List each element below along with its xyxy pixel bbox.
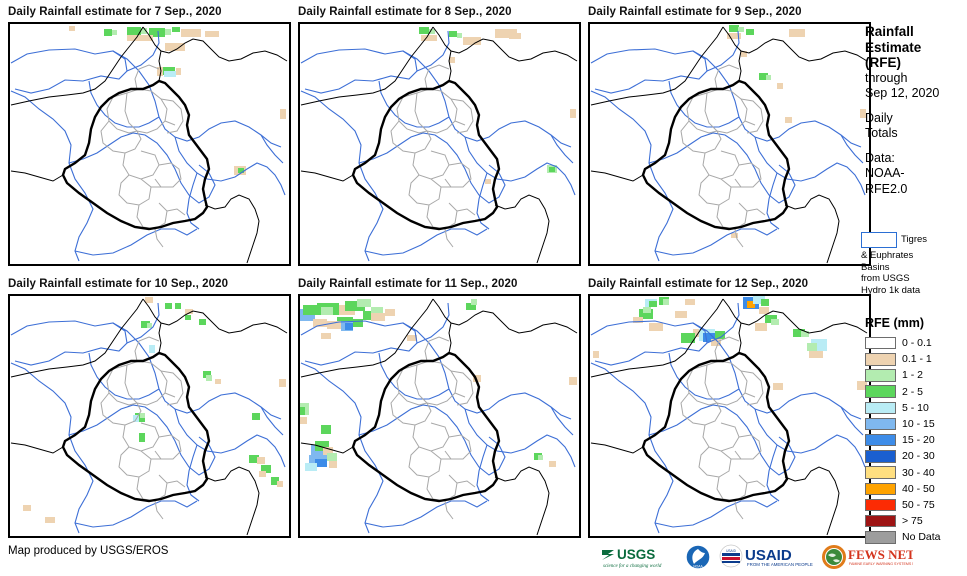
legend-item: 40 - 50 [865,481,967,497]
svg-text:NOAA: NOAA [693,565,703,569]
data-source-line2: NOAA- [865,166,967,182]
legend-item: 10 - 15 [865,416,967,432]
svg-text:USAID: USAID [726,549,736,553]
legend-swatch [865,353,896,366]
rainfall-cells [299,299,577,471]
rfe-legend-title: RFE (mm) [865,316,967,330]
legend-label: 5 - 10 [902,402,929,414]
map-canvas [299,23,580,265]
legend-item: 2 - 5 [865,384,967,400]
legend-item: 0.1 - 1 [865,351,967,367]
map-canvas [9,23,290,265]
legend-item: 20 - 30 [865,448,967,464]
through-label: through [865,71,967,87]
svg-text:FEWS NET: FEWS NET [848,547,913,562]
legend-label: 30 - 40 [902,467,935,479]
basin-label-line5: Hydro 1k data [861,285,967,297]
basin-outline-swatch [861,232,897,248]
rfe-title-line3: (RFE) [865,55,967,71]
legend-sidebar: Rainfall Estimate (RFE) through Sep 12, … [861,0,967,576]
agency-logos: USGS science for a changing world NOAA U… [600,540,913,574]
legend-item: 50 - 75 [865,497,967,513]
rfe-legend: RFE (mm) 0 - 0.1 0.1 - 1 1 - 2 2 - 5 5 -… [865,316,967,545]
totals-line2: Totals [865,126,967,142]
legend-label: 10 - 15 [902,418,935,430]
legend-label: 20 - 30 [902,450,935,462]
through-date: Sep 12, 2020 [865,86,967,102]
legend-label: 0.1 - 1 [902,353,932,365]
data-source-label: Data: [865,151,967,167]
svg-text:USGS: USGS [617,547,655,562]
legend-item: 15 - 20 [865,432,967,448]
legend-swatch [865,450,896,463]
basin-label-line4: from USGS [861,273,967,285]
legend-item: 0 - 0.1 [865,335,967,351]
totals-line1: Daily [865,111,967,127]
basin-legend: Tigres & Euphrates Basins from USGS Hydr… [861,232,967,296]
usgs-logo: USGS science for a changing world [600,542,678,572]
map-canvas [9,295,290,537]
panel-title: Daily Rainfall estimate for 8 Sep., 2020 [298,6,512,18]
legend-swatch [865,434,896,447]
panel-title: Daily Rainfall estimate for 10 Sep., 202… [8,278,228,290]
map-credit: Map produced by USGS/EROS [8,545,168,557]
legend-swatch [865,515,896,528]
legend-swatch [865,402,896,415]
legend-swatch [865,337,896,350]
legend-swatch [865,499,896,512]
map-frame[interactable] [588,22,871,266]
legend-label: 40 - 50 [902,483,935,495]
basin-label-line1: Tigres [901,232,927,245]
legend-swatch [865,483,896,496]
legend-item: 30 - 40 [865,465,967,481]
map-frame[interactable] [588,294,871,538]
legend-item: > 75 [865,513,967,529]
map-frame[interactable] [8,22,291,266]
svg-text:FROM THE AMERICAN PEOPLE: FROM THE AMERICAN PEOPLE [747,562,813,567]
map-frame[interactable] [298,22,581,266]
map-canvas [299,295,580,537]
legend-swatch [865,385,896,398]
map-canvas [589,295,870,537]
legend-swatch [865,418,896,431]
fews-net-logo: FEWS NET FAMINE EARLY WARNING SYSTEMS NE… [821,542,913,572]
panel-title: Daily Rainfall estimate for 7 Sep., 2020 [8,6,222,18]
legend-swatch [865,369,896,382]
map-frame[interactable] [8,294,291,538]
legend-item: 5 - 10 [865,400,967,416]
legend-label: 0 - 0.1 [902,337,932,349]
legend-label: 1 - 2 [902,369,923,381]
basin-label-line3: Basins [861,262,967,274]
svg-text:FAMINE EARLY WARNING SYSTEMS N: FAMINE EARLY WARNING SYSTEMS NETWORK [849,562,913,566]
legend-label: 15 - 20 [902,434,935,446]
svg-text:science for a changing world: science for a changing world [603,564,662,569]
data-source-line3: RFE2.0 [865,182,967,198]
rfe-title-line2: Estimate [865,40,967,56]
map-frame[interactable] [298,294,581,538]
sidebar-heading-block: Rainfall Estimate (RFE) through Sep 12, … [865,24,967,197]
noaa-logo: NOAA [685,542,711,572]
panel-title: Daily Rainfall estimate for 9 Sep., 2020 [588,6,802,18]
legend-swatch [865,466,896,479]
legend-item: 1 - 2 [865,367,967,383]
legend-label: 2 - 5 [902,386,923,398]
rainfall-cells [23,297,286,523]
usaid-logo: USAID USAID FROM THE AMERICAN PEOPLE [718,542,814,572]
legend-label: > 75 [902,515,923,527]
legend-label: 50 - 75 [902,499,935,511]
basin-label-line2: & Euphrates [861,250,967,262]
panel-title: Daily Rainfall estimate for 11 Sep., 202… [298,278,518,290]
panel-title: Daily Rainfall estimate for 12 Sep., 202… [588,278,808,290]
map-canvas [589,23,870,265]
rfe-title-line1: Rainfall [865,24,967,40]
